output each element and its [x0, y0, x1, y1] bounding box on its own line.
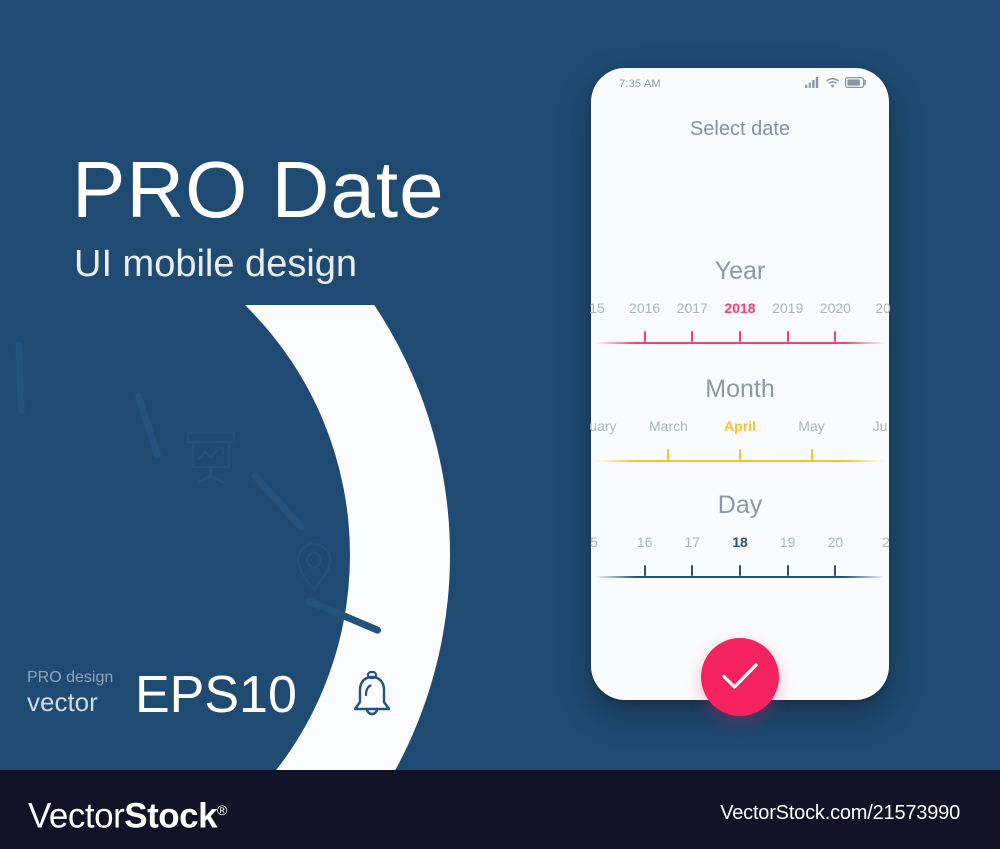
confirm-button[interactable] — [701, 638, 779, 716]
cloud-icon — [38, 381, 100, 430]
logo-word-vector: Vector — [28, 797, 124, 836]
picker-tick — [739, 565, 741, 576]
picker-label-month: Month — [591, 374, 889, 404]
picker-label-year: Year — [591, 256, 889, 286]
picker-value[interactable]: May — [798, 418, 824, 434]
picker-label-day: Day — [591, 490, 889, 520]
picker-day[interactable]: Day516171819202 — [591, 490, 889, 588]
picker-value[interactable]: 19 — [780, 534, 796, 550]
vectorstock-logo: VectorStock® — [28, 793, 227, 834]
picker-value[interactable]: 16 — [637, 534, 653, 550]
picker-value-selected[interactable]: 2018 — [724, 300, 755, 316]
picker-value[interactable]: 17 — [685, 534, 701, 550]
picker-value[interactable]: March — [649, 418, 688, 434]
picker-value[interactable]: 2016 — [629, 300, 660, 316]
watermark-footer: VectorStock® VectorStock.com/21573990 — [0, 770, 1000, 849]
picker-value[interactable]: uary — [589, 418, 616, 434]
poster-canvas: PRO Date UI mobile design PRO design vec… — [0, 0, 1000, 849]
picker-value-selected[interactable]: 18 — [732, 534, 748, 550]
picker-strip-year[interactable]: 152016201720182019202020 — [591, 298, 889, 354]
page-title: PRO Date — [72, 150, 445, 230]
picker-tick — [811, 449, 813, 460]
page-subtitle: UI mobile design — [74, 245, 357, 283]
picker-rail[interactable] — [595, 576, 885, 578]
presentation-chart-icon — [182, 430, 240, 491]
vectorstock-url: VectorStock.com/21573990 — [720, 802, 960, 825]
badge-line-1: PRO design — [27, 668, 113, 687]
picker-rail[interactable] — [595, 342, 885, 344]
picker-values: 152016201720182019202020 — [591, 298, 889, 322]
check-icon — [721, 661, 759, 694]
picker-value[interactable]: 2019 — [772, 300, 803, 316]
picker-tick — [834, 331, 836, 342]
picker-value[interactable]: 5 — [590, 534, 598, 550]
picker-tick — [667, 449, 669, 460]
picker-value-selected[interactable]: April — [724, 418, 756, 434]
picker-value[interactable]: 15 — [589, 300, 605, 316]
picker-month[interactable]: MonthuaryMarchAprilMayJu — [591, 374, 889, 472]
picker-value[interactable]: Ju — [873, 418, 888, 434]
picker-tick — [691, 331, 693, 342]
picker-rail[interactable] — [595, 460, 885, 462]
picker-values: uaryMarchAprilMayJu — [591, 416, 889, 440]
logo-word-stock: Stock — [124, 797, 217, 836]
location-pin-icon — [293, 541, 335, 598]
picker-year[interactable]: Year152016201720182019202020 — [591, 256, 889, 354]
status-bar-clock: 7:35 AM — [619, 78, 661, 90]
picker-tick — [644, 331, 646, 342]
status-bar-icons — [805, 77, 867, 91]
registered-mark: ® — [217, 802, 227, 818]
picker-tick — [787, 331, 789, 342]
signal-icon — [805, 75, 820, 93]
format-badge: PRO design vector EPS10 — [27, 668, 327, 728]
phone-mockup: 7:35 AM Select date Year1520162017201820… — [591, 68, 889, 700]
picker-values: 516171819202 — [591, 532, 889, 556]
badge-format: EPS10 — [135, 666, 297, 724]
bell-icon — [348, 671, 396, 728]
picker-value[interactable]: 20 — [828, 534, 844, 550]
picker-tick — [787, 565, 789, 576]
screen-title: Select date — [591, 118, 889, 141]
picker-value[interactable]: 2017 — [677, 300, 708, 316]
picker-strip-month[interactable]: uaryMarchAprilMayJu — [591, 416, 889, 472]
picker-value[interactable]: 2020 — [820, 300, 851, 316]
picker-tick — [691, 565, 693, 576]
picker-strip-day[interactable]: 516171819202 — [591, 532, 889, 588]
picker-value[interactable]: 20 — [875, 300, 891, 316]
decorative-arc — [0, 305, 460, 805]
badge-line-2: vector — [27, 687, 98, 717]
picker-value[interactable]: 2 — [882, 534, 890, 550]
picker-tick — [644, 565, 646, 576]
picker-tick — [834, 565, 836, 576]
picker-tick — [739, 331, 741, 342]
wifi-icon — [826, 75, 839, 93]
status-bar: 7:35 AM — [591, 68, 889, 102]
battery-icon — [845, 75, 867, 93]
picker-tick — [739, 449, 741, 460]
